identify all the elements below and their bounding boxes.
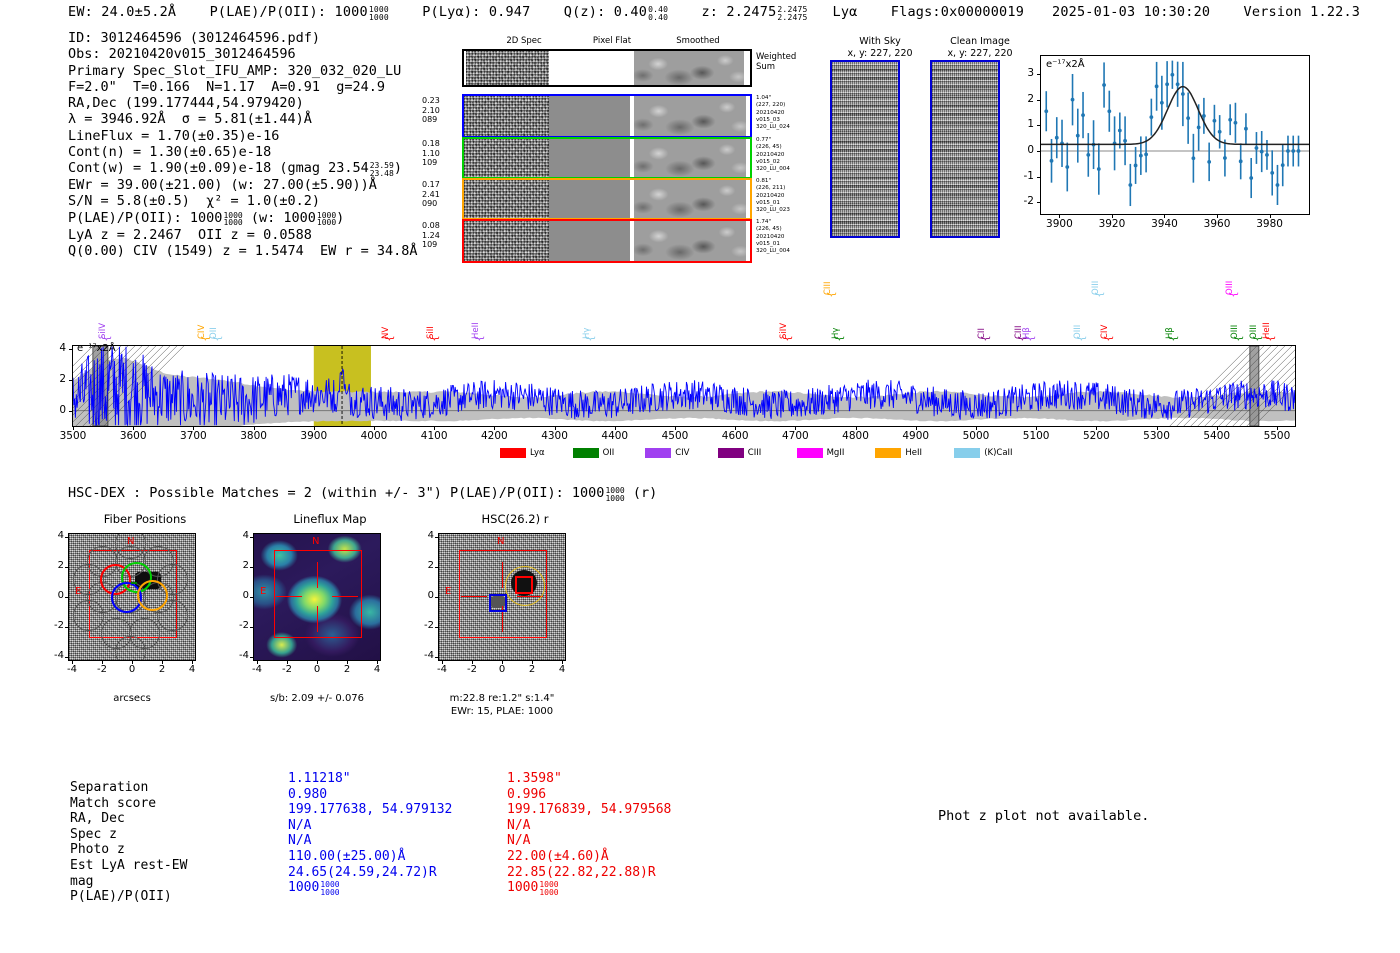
spec2d-col-title-2dspec: 2D Spec: [484, 36, 564, 46]
match-value: 100010001000: [288, 880, 340, 896]
match-value: N/A: [288, 833, 311, 849]
legend-label: CIV: [675, 448, 689, 458]
object-info-block: ID: 3012464596 (3012464596.pdf) Obs: 202…: [68, 30, 418, 259]
spectrum-xtick: 4500: [650, 430, 700, 442]
header-version: Version 1.22.3: [1244, 4, 1361, 20]
full-spectrum-plot: e⁻¹⁷x2Å 35003600370038003900400041004200…: [72, 345, 1296, 427]
panel-xtick: -2: [273, 664, 301, 675]
line-marker-label: OIII: [1249, 325, 1259, 339]
info-obs: Obs: 20210420v015_3012464596: [68, 46, 418, 62]
match-value: 0.980: [288, 787, 327, 803]
panel-ytick: 0: [416, 590, 434, 601]
spectrum-xtick: 3900: [289, 430, 339, 442]
line-marker-label: NV: [381, 327, 391, 339]
line-marker-label: OIII: [1091, 281, 1101, 295]
panel-ytick: -4: [416, 650, 434, 661]
line-marker-label: OIII: [1230, 325, 1240, 339]
panel-xtick: 2: [333, 664, 361, 675]
caption-lineflux-map: s/b: 2.09 +/- 0.076: [217, 692, 417, 705]
match-row-label: RA, Dec: [70, 811, 125, 827]
header-plae-label: P(LAE)/P(OII): 1000: [210, 4, 368, 20]
panel-ytick: 0: [46, 590, 64, 601]
line-marker-label: OII: [209, 327, 219, 339]
legend-swatch: [645, 448, 671, 458]
panel-xtick: -2: [458, 664, 486, 675]
legend-swatch: [954, 448, 980, 458]
legend-swatch: [875, 448, 901, 458]
spectrum-xtick: 4900: [891, 430, 941, 442]
panel-ytick: 2: [416, 560, 434, 571]
info-snr-chi2: S/N = 5.8(±0.5) χ² = 1.0(±0.2): [68, 193, 418, 209]
match-value: 1.11218": [288, 771, 351, 787]
info-ewr: EWr = 39.00(±21.00) (w: 27.00(±5.90))Å: [68, 177, 418, 193]
header-plae-fraction: 10001000: [369, 6, 389, 21]
panel-ytick: -4: [46, 650, 64, 661]
legend-swatch: [797, 448, 823, 458]
line-marker-label: Hγ: [582, 328, 592, 339]
match-value: 110.00(±25.00)Å: [288, 849, 405, 865]
match-value: N/A: [507, 818, 530, 834]
header-plya: P(Lyα): 0.947: [422, 4, 530, 20]
spec2d-row-2-values: 0.181.10109: [422, 139, 440, 168]
line-marker-label: HeII: [1262, 322, 1272, 339]
legend-label: CIII: [748, 448, 761, 458]
caption-fiber-positions: arcsecs: [32, 692, 232, 705]
spec2d-row-3-values: 0.172.41090: [422, 180, 440, 209]
panel-title-lineflux-map: Lineflux Map: [250, 512, 410, 526]
info-redshifts: LyA z = 2.2467 OII z = 0.0588: [68, 227, 418, 243]
spectrum-xtick: 4600: [710, 430, 760, 442]
panel-ytick: 2: [231, 560, 249, 571]
fit-ytick: -1: [1014, 170, 1034, 182]
match-row-label: P(LAE)/P(OII): [70, 889, 172, 905]
match-row-label: mag: [70, 874, 93, 890]
spectrum-xtick: 3500: [48, 430, 98, 442]
info-q-civ: Q(0.00) CIV (1549) z = 1.5474 EW r = 34.…: [68, 243, 418, 259]
spec2d-weighted-sum-row: [462, 49, 752, 87]
cutout-with-sky-image: [830, 60, 900, 238]
match-row-label: Spec z: [70, 827, 117, 843]
header-ew: EW: 24.0±5.2Å: [68, 4, 176, 20]
panel-ytick: -4: [231, 650, 249, 661]
panel-xtick: -2: [88, 664, 116, 675]
panel-xtick: 4: [178, 664, 206, 675]
panel-xtick: 0: [303, 664, 331, 675]
legend-label: (K)CaII: [984, 448, 1012, 458]
spectrum-xtick: 4800: [831, 430, 881, 442]
match-row-label: Est LyA rest-EW: [70, 858, 187, 874]
spectrum-xtick: 4100: [409, 430, 459, 442]
fit-xtick: 3920: [1090, 218, 1134, 230]
legend-label: OII: [603, 448, 615, 458]
hsc-match-marker-red: [515, 576, 533, 594]
spectrum-xtick: 4700: [770, 430, 820, 442]
header-qz-fraction: 0.400.40: [648, 6, 668, 21]
caption-hsc-r: m:22.8 re:1.2" s:1.4" EWr: 15, PLAE: 100…: [402, 692, 602, 718]
lineflux-map-image[interactable]: N E: [253, 533, 381, 661]
match-value: 100010001000: [507, 880, 559, 896]
cutout-clean-image-title: Clean Imagex, y: 227, 220: [930, 36, 1030, 59]
line-marker-label: SiII: [426, 326, 436, 339]
match-value: 199.176839, 54.979568: [507, 802, 671, 818]
panel-ytick: -2: [46, 620, 64, 631]
fit-ytick: 2: [1014, 93, 1034, 105]
hsc-match-marker-blue: [489, 594, 507, 612]
photz-note: Phot z plot not available.: [938, 808, 1149, 824]
spectrum-xtick: 5100: [1011, 430, 1061, 442]
spectrum-ytick: 2: [46, 373, 66, 385]
header-flags: Flags:0x00000019: [891, 4, 1024, 20]
line-marker-label: Hβ: [1022, 327, 1032, 339]
spectrum-xtick: 5300: [1132, 430, 1182, 442]
header-timestamp-version: 2025-01-03 10:30:20 Version 1.22.3: [1052, 4, 1360, 20]
match-value: 199.177638, 54.979132: [288, 802, 452, 818]
panel-xtick: -4: [243, 664, 271, 675]
emission-line-fit-plot: e⁻¹⁷x2Å 39003920394039603980 -2-10123: [1040, 55, 1310, 215]
spec2d-row-1-meta: 1.04" (227, 220) 20210420 v015_03 320_LU…: [756, 95, 790, 131]
fiber-positions-image[interactable]: N E: [68, 533, 196, 661]
spec2d-weighted-sum-label: Weighted Sum: [756, 52, 796, 72]
spec2d-row-2-meta: 0.77" (226, 45) 20210420 v015_02 320_LU_…: [756, 137, 790, 173]
spectrum-xtick: 3700: [168, 430, 218, 442]
panel-ytick: 4: [231, 530, 249, 541]
line-marker-label: CII: [977, 328, 987, 339]
spec2d-row-4-meta: 1.74" (226, 45) 20210420 v015_01 320_LU_…: [756, 219, 790, 255]
spec2d-row-4-values: 0.081.24109: [422, 221, 440, 250]
fit-plot-data: [1041, 56, 1309, 214]
spec2d-row-3-meta: 0.81" (226, 211) 20210420 v015_01 320_LU…: [756, 178, 790, 214]
spectrum-xtick: 3800: [229, 430, 279, 442]
line-marker-label: HeII: [471, 322, 481, 339]
legend-swatch: [500, 448, 526, 458]
spectrum-xtick: 5500: [1252, 430, 1302, 442]
panel-ytick: -2: [231, 620, 249, 631]
spectrum-ytick: 4: [46, 342, 66, 354]
spec2d-col-title-smoothed: Smoothed: [658, 36, 738, 46]
hscdex-headline: HSC-DEX : Possible Matches = 2 (within +…: [68, 485, 657, 502]
panel-xtick: -4: [58, 664, 86, 675]
spectrum-xtick: 5400: [1192, 430, 1242, 442]
panel-ytick: 4: [46, 530, 64, 541]
legend-label: Lyα: [530, 448, 545, 458]
panel-ytick: 4: [416, 530, 434, 541]
spectrum-unit-label: e⁻¹⁷x2Å: [77, 343, 116, 354]
panel-ytick: -2: [416, 620, 434, 631]
header-z-label: z: 2.2475: [701, 4, 776, 20]
fit-ytick: -2: [1014, 195, 1034, 207]
fiber-circle-orange: [137, 580, 168, 611]
compass-e-hsc: E: [445, 586, 451, 597]
header-qz-label: Q(z): 0.40: [564, 4, 647, 20]
spectrum-xtick: 4000: [349, 430, 399, 442]
compass-n-hsc: N: [497, 536, 504, 547]
match-row-label: Separation: [70, 780, 148, 796]
fit-xtick: 3980: [1248, 218, 1292, 230]
line-marker-label: OIII: [1073, 325, 1083, 339]
line-marker-label: SiIV: [98, 323, 108, 339]
line-marker-label: CIV: [197, 325, 207, 339]
line-marker-label: OIII: [1225, 281, 1235, 295]
spectrum-data: [73, 346, 1295, 426]
spectrum-xtick: 5200: [1071, 430, 1121, 442]
match-value: 0.996: [507, 787, 546, 803]
legend-label: MgII: [827, 448, 845, 458]
spec2d-row-4: [462, 219, 752, 263]
match-value: 22.00(±4.60)Å: [507, 849, 609, 865]
info-plae: P(LAE)/P(OII): 100010001000 (w: 10001000…: [68, 210, 418, 227]
spec2d-row-1: [462, 94, 752, 138]
info-wavelength-sigma: λ = 3946.92Å σ = 5.81(±1.44)Å: [68, 111, 418, 127]
spec2d-row-1-values: 0.232.10089: [422, 96, 440, 125]
line-marker-label: Hγ: [831, 328, 841, 339]
legend-label: HeII: [905, 448, 922, 458]
legend-swatch: [573, 448, 599, 458]
info-primary-spec: Primary Spec_Slot_IFU_AMP: 320_032_020_L…: [68, 63, 418, 79]
compass-e-lineflux: E: [260, 586, 266, 597]
fit-ytick: 0: [1014, 144, 1034, 156]
panel-xtick: 0: [118, 664, 146, 675]
spectrum-xtick: 4300: [530, 430, 580, 442]
fit-xtick: 3960: [1195, 218, 1239, 230]
line-marker-label: SiIV: [779, 323, 789, 339]
match-row-label: Match score: [70, 796, 156, 812]
match-value: 24.65(24.59,24.72)R: [288, 865, 437, 881]
compass-n-fiber: N: [127, 536, 134, 547]
panel-ytick: 2: [46, 560, 64, 571]
info-lineflux: LineFlux = 1.70(±0.35)e-16: [68, 128, 418, 144]
match-value: N/A: [507, 833, 530, 849]
info-cont-n: Cont(n) = 1.30(±0.65)e-18: [68, 144, 418, 160]
line-marker-label: CIII: [823, 282, 833, 295]
info-id: ID: 3012464596 (3012464596.pdf): [68, 30, 418, 46]
header-z-fraction: 2.24752.2475: [777, 6, 807, 21]
panel-title-fiber-positions: Fiber Positions: [65, 512, 225, 526]
spectrum-xtick: 4200: [469, 430, 519, 442]
panel-xtick: -4: [428, 664, 456, 675]
panel-xtick: 2: [518, 664, 546, 675]
line-marker-label: Hβ: [1165, 327, 1175, 339]
match-value: 22.85(22.82,22.88)R: [507, 865, 656, 881]
spec2d-col-title-pixelflat: Pixel Flat: [572, 36, 652, 46]
match-value: N/A: [288, 818, 311, 834]
hsc-r-image[interactable]: N E: [438, 533, 566, 661]
line-marker-label: CIV: [1100, 325, 1110, 339]
spec2d-row-3: [462, 178, 752, 220]
panel-xtick: 4: [363, 664, 391, 675]
compass-n-lineflux: N: [312, 536, 319, 547]
fit-xtick: 3940: [1142, 218, 1186, 230]
panel-xtick: 0: [488, 664, 516, 675]
info-cont-w: Cont(w) = 1.90(±0.09)e-18 (gmag 23.5423.…: [68, 160, 418, 177]
match-row-label: Photo z: [70, 842, 125, 858]
panel-title-hsc-r: HSC(26.2) r: [435, 512, 595, 526]
panel-xtick: 2: [148, 664, 176, 675]
cutout-clean-image: [930, 60, 1000, 238]
fit-xtick: 3900: [1037, 218, 1081, 230]
compass-e-fiber: E: [75, 586, 81, 597]
legend-swatch: [718, 448, 744, 458]
info-radec: RA,Dec (199.177444,54.979420): [68, 95, 418, 111]
spectrum-xtick: 3600: [108, 430, 158, 442]
fit-ytick: 1: [1014, 118, 1034, 130]
panel-xtick: 4: [548, 664, 576, 675]
match-value: 1.3598": [507, 771, 562, 787]
header-z-suffix: Lyα: [833, 4, 858, 20]
header-timestamp: 2025-01-03 10:30:20: [1052, 4, 1210, 20]
fit-ytick: 3: [1014, 67, 1034, 79]
panel-ytick: 0: [231, 590, 249, 601]
spec2d-row-2: [462, 137, 752, 179]
spectrum-xtick: 5000: [951, 430, 1001, 442]
header-summary: EW: 24.0±5.2Å P(LAE)/P(OII): 10001000100…: [68, 4, 1024, 21]
spectrum-ytick: 0: [46, 404, 66, 416]
cutout-with-sky-title: With Skyx, y: 227, 220: [830, 36, 930, 59]
info-observing-params: F=2.0" T=0.166 N=1.17 A=0.91 g=24.9: [68, 79, 418, 95]
spectrum-xtick: 4400: [590, 430, 640, 442]
